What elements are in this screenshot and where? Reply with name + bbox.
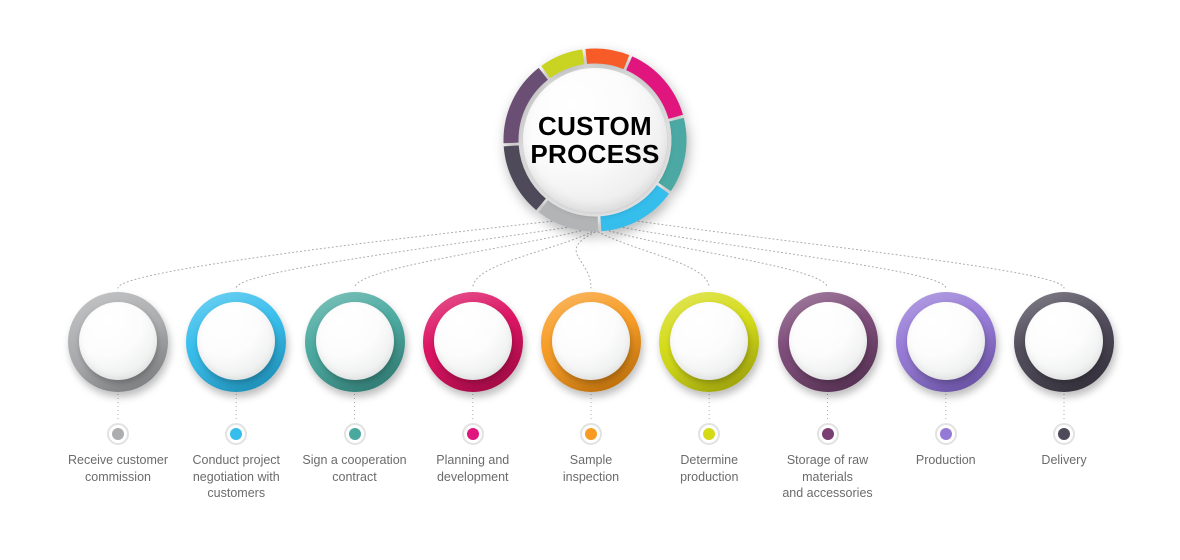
step-core-production: [907, 302, 985, 380]
step-circle-conduct-project-negotiation[interactable]: [186, 292, 286, 392]
connector-to-production: [623, 228, 945, 289]
step-label-conduct-project-negotiation: Conduct project negotiation with custome…: [174, 452, 298, 502]
step-marker-dot-storage-of-raw-materials: [822, 428, 834, 440]
step-label-sign-cooperation-contract: Sign a cooperation contract: [293, 452, 417, 485]
step-marker-production[interactable]: [935, 423, 957, 445]
connector-to-conduct-project-negotiation: [236, 228, 566, 289]
connector-to-sign-cooperation-contract: [355, 231, 581, 288]
step-label-storage-of-raw-materials: Storage of raw materials and accessories: [766, 452, 890, 502]
connector-to-planning-and-development: [473, 232, 592, 288]
connector-to-delivery: [638, 221, 1064, 288]
step-marker-dot-determine-production: [703, 428, 715, 440]
step-marker-dot-sample-inspection: [585, 428, 597, 440]
step-marker-dot-delivery: [1058, 428, 1070, 440]
step-label-determine-production: Determine production: [647, 452, 771, 485]
hub-title-line-2: PROCESS: [530, 140, 659, 168]
step-core-determine-production: [670, 302, 748, 380]
step-label-sample-inspection: Sample inspection: [529, 452, 653, 485]
step-circle-sample-inspection[interactable]: [541, 292, 641, 392]
step-circle-receive-customer-commission[interactable]: [68, 292, 168, 392]
step-marker-planning-and-development[interactable]: [462, 423, 484, 445]
connector-to-sample-inspection: [576, 232, 595, 288]
step-marker-dot-conduct-project-negotiation: [230, 428, 242, 440]
step-core-delivery: [1025, 302, 1103, 380]
step-marker-determine-production[interactable]: [698, 423, 720, 445]
step-marker-storage-of-raw-materials[interactable]: [817, 423, 839, 445]
hub-ring-segment-orange: [586, 56, 626, 62]
step-marker-dot-sign-cooperation-contract: [349, 428, 361, 440]
step-marker-conduct-project-negotiation[interactable]: [225, 423, 247, 445]
connector-to-storage-of-raw-materials: [609, 231, 827, 288]
step-label-receive-customer-commission: Receive customer commission: [56, 452, 180, 485]
step-label-delivery: Delivery: [1002, 452, 1126, 469]
connector-to-receive-customer-commission: [118, 221, 552, 288]
step-circle-production[interactable]: [896, 292, 996, 392]
step-marker-sign-cooperation-contract[interactable]: [344, 423, 366, 445]
connector-to-determine-production: [598, 232, 709, 288]
hub-core: CUSTOM PROCESS: [523, 68, 667, 212]
step-marker-dot-receive-customer-commission: [112, 428, 124, 440]
step-marker-receive-customer-commission[interactable]: [107, 423, 129, 445]
step-marker-delivery[interactable]: [1053, 423, 1075, 445]
step-marker-dot-planning-and-development: [467, 428, 479, 440]
step-core-sample-inspection: [552, 302, 630, 380]
step-marker-sample-inspection[interactable]: [580, 423, 602, 445]
step-core-sign-cooperation-contract: [316, 302, 394, 380]
step-circle-storage-of-raw-materials[interactable]: [778, 292, 878, 392]
step-label-planning-and-development: Planning and development: [411, 452, 535, 485]
step-circle-delivery[interactable]: [1014, 292, 1114, 392]
step-core-conduct-project-negotiation: [197, 302, 275, 380]
step-circle-sign-cooperation-contract[interactable]: [305, 292, 405, 392]
central-hub: CUSTOM PROCESS: [500, 45, 690, 235]
step-circle-planning-and-development[interactable]: [423, 292, 523, 392]
step-core-storage-of-raw-materials: [789, 302, 867, 380]
infographic-canvas: CUSTOM PROCESS Receive customer commissi…: [0, 0, 1180, 560]
step-core-receive-customer-commission: [79, 302, 157, 380]
step-label-production: Production: [884, 452, 1008, 469]
step-circle-determine-production[interactable]: [659, 292, 759, 392]
hub-ring-segment-teal: [665, 120, 679, 187]
step-marker-dot-production: [940, 428, 952, 440]
hub-title-line-1: CUSTOM: [538, 112, 652, 140]
step-core-planning-and-development: [434, 302, 512, 380]
